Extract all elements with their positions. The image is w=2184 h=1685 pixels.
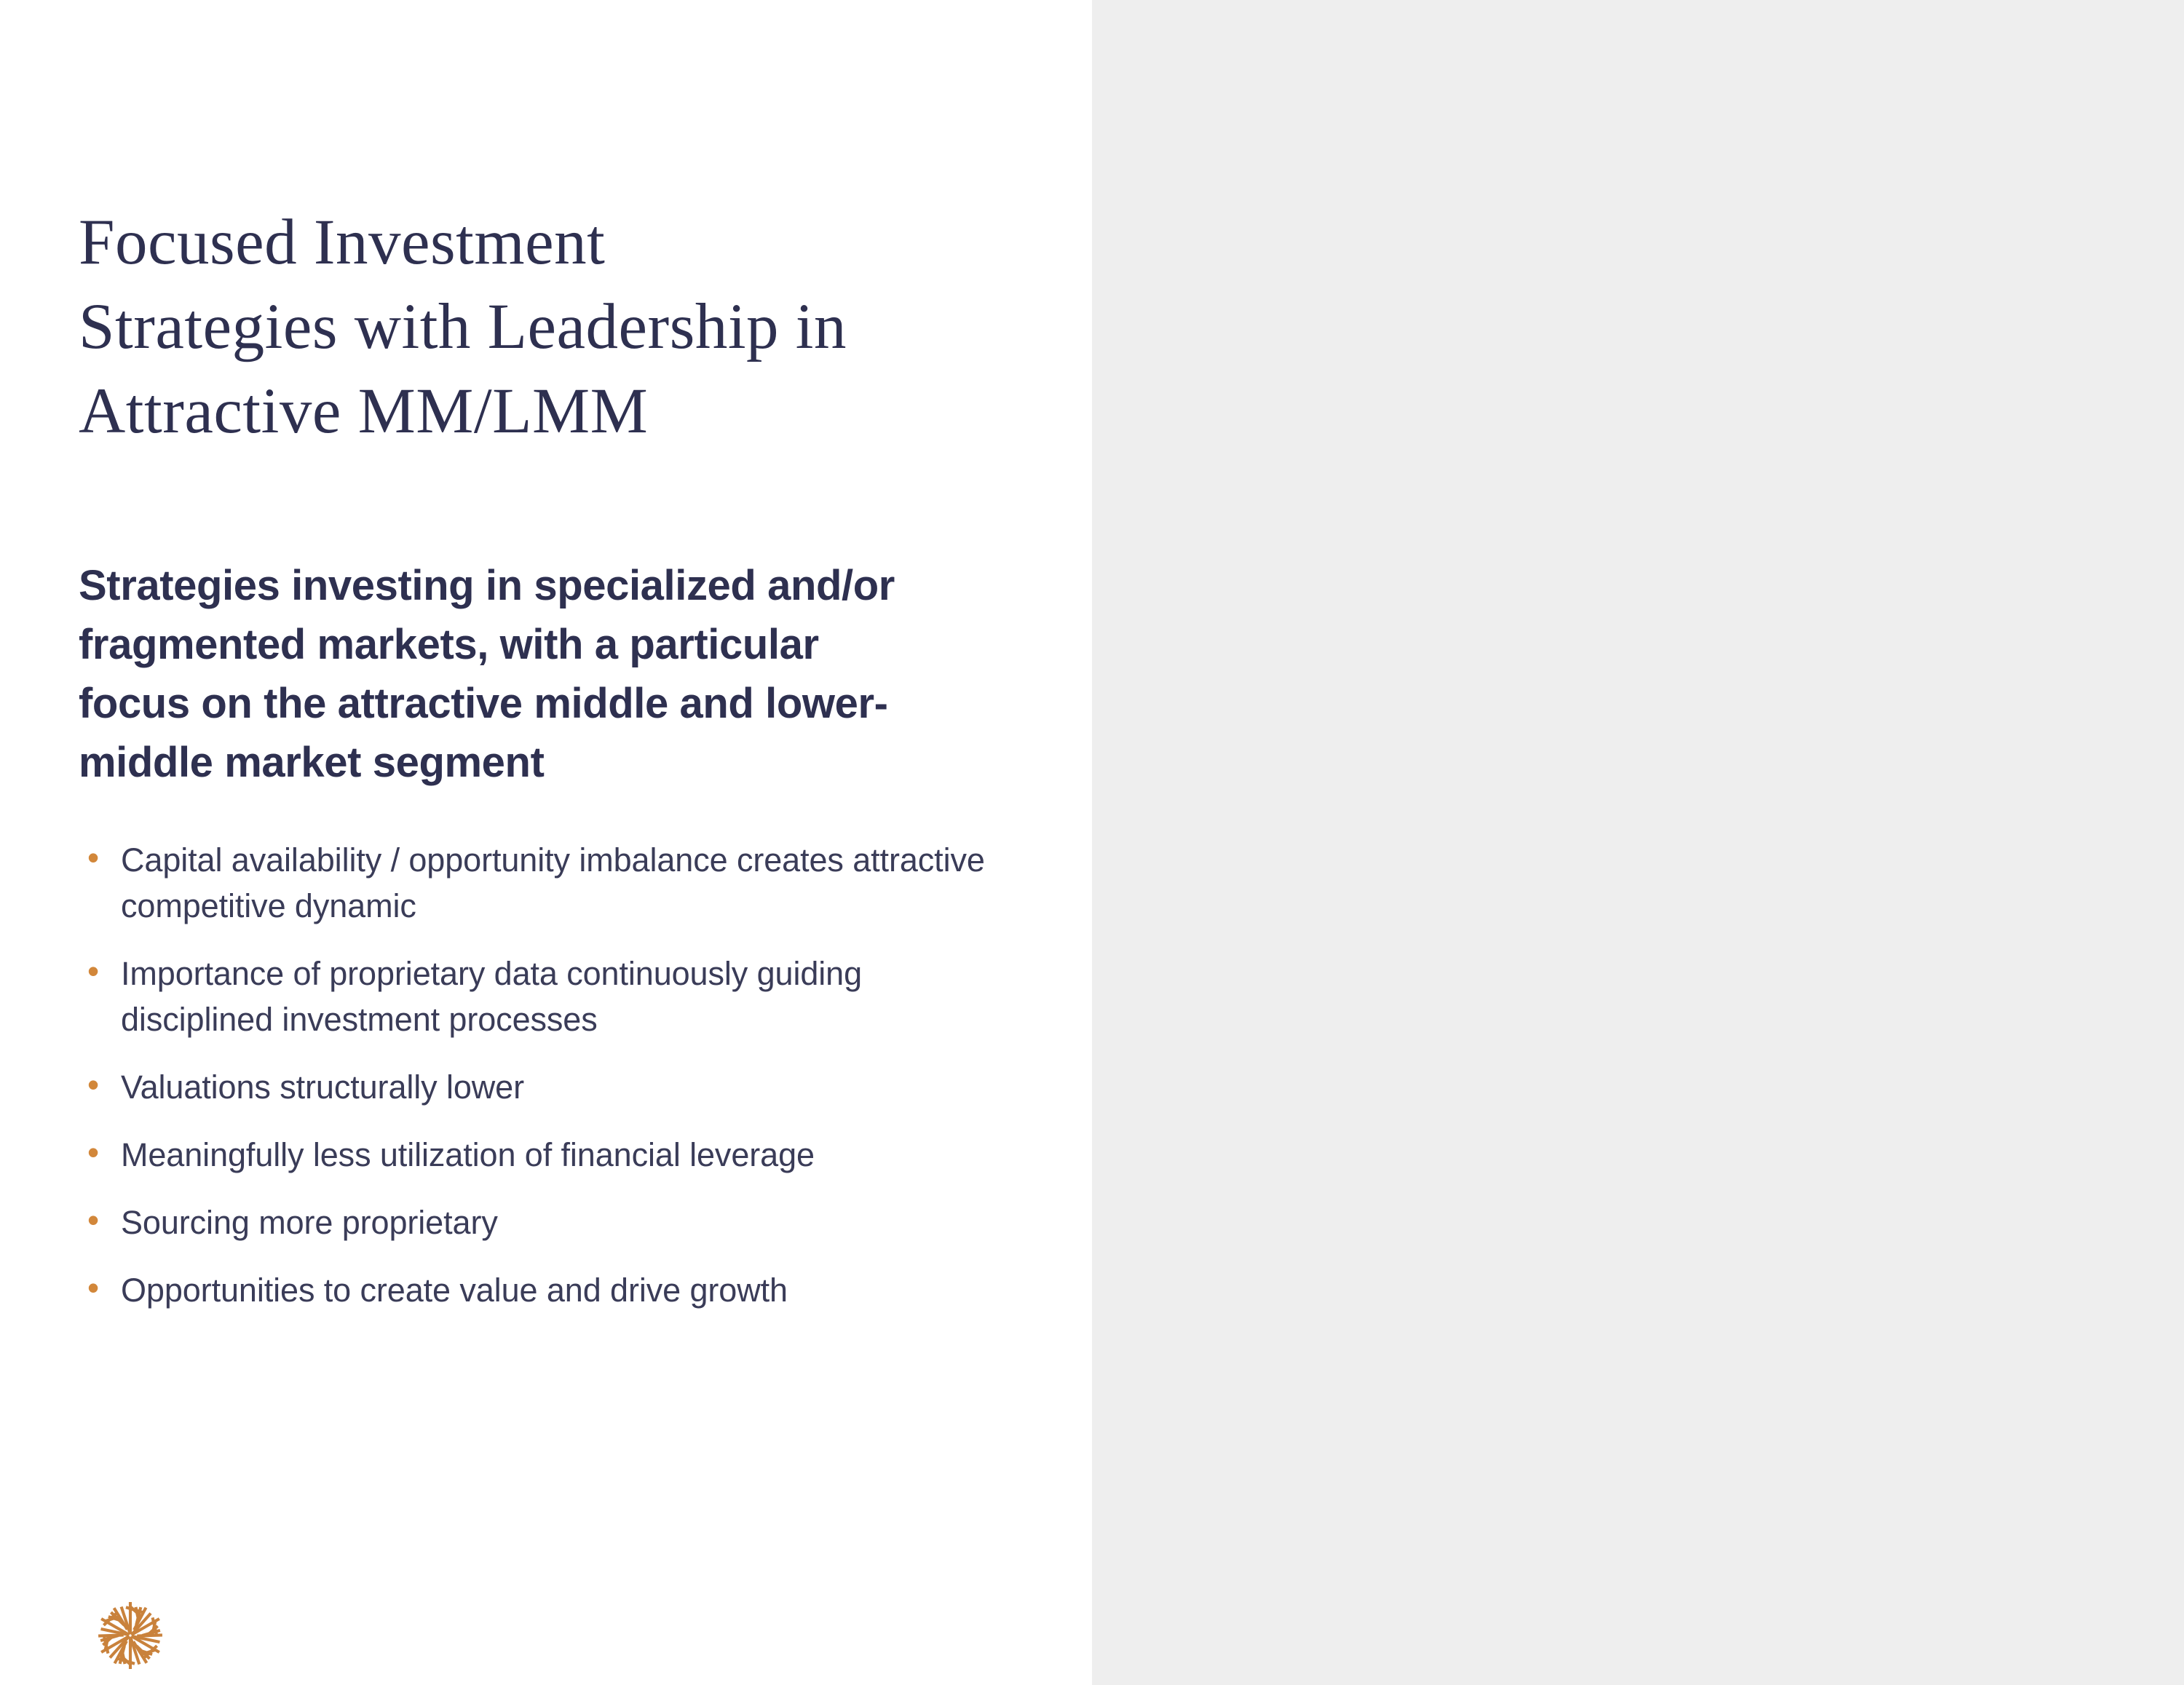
list-item: Importance of proprietary data continuou…	[79, 951, 996, 1042]
list-item: Meaningfully less utilization of financi…	[79, 1132, 996, 1178]
page-title-line-3: Attractive MM/LMM	[79, 369, 989, 453]
list-item: Sourcing more proprietary	[79, 1200, 996, 1245]
page-title-line-2: Strategies with Leadership in	[79, 285, 989, 369]
left-content-panel: Focused Investment Strategies with Leade…	[0, 0, 1092, 1685]
right-diagram-panel: Investment Strategy Focus People and Cul…	[1092, 0, 2184, 1685]
bullet-list: Capital availability / opportunity imbal…	[79, 837, 996, 1335]
list-item: Capital availability / opportunity imbal…	[79, 837, 996, 929]
page-title-line-1: Focused Investment	[79, 200, 989, 285]
company-starburst-logo	[87, 1593, 173, 1678]
list-item: Valuations structurally lower	[79, 1064, 996, 1110]
page-title: Focused Investment Strategies with Leade…	[79, 200, 989, 453]
list-item: Opportunities to create value and drive …	[79, 1267, 996, 1313]
lead-statement: Strategies investing in specialized and/…	[79, 556, 923, 792]
